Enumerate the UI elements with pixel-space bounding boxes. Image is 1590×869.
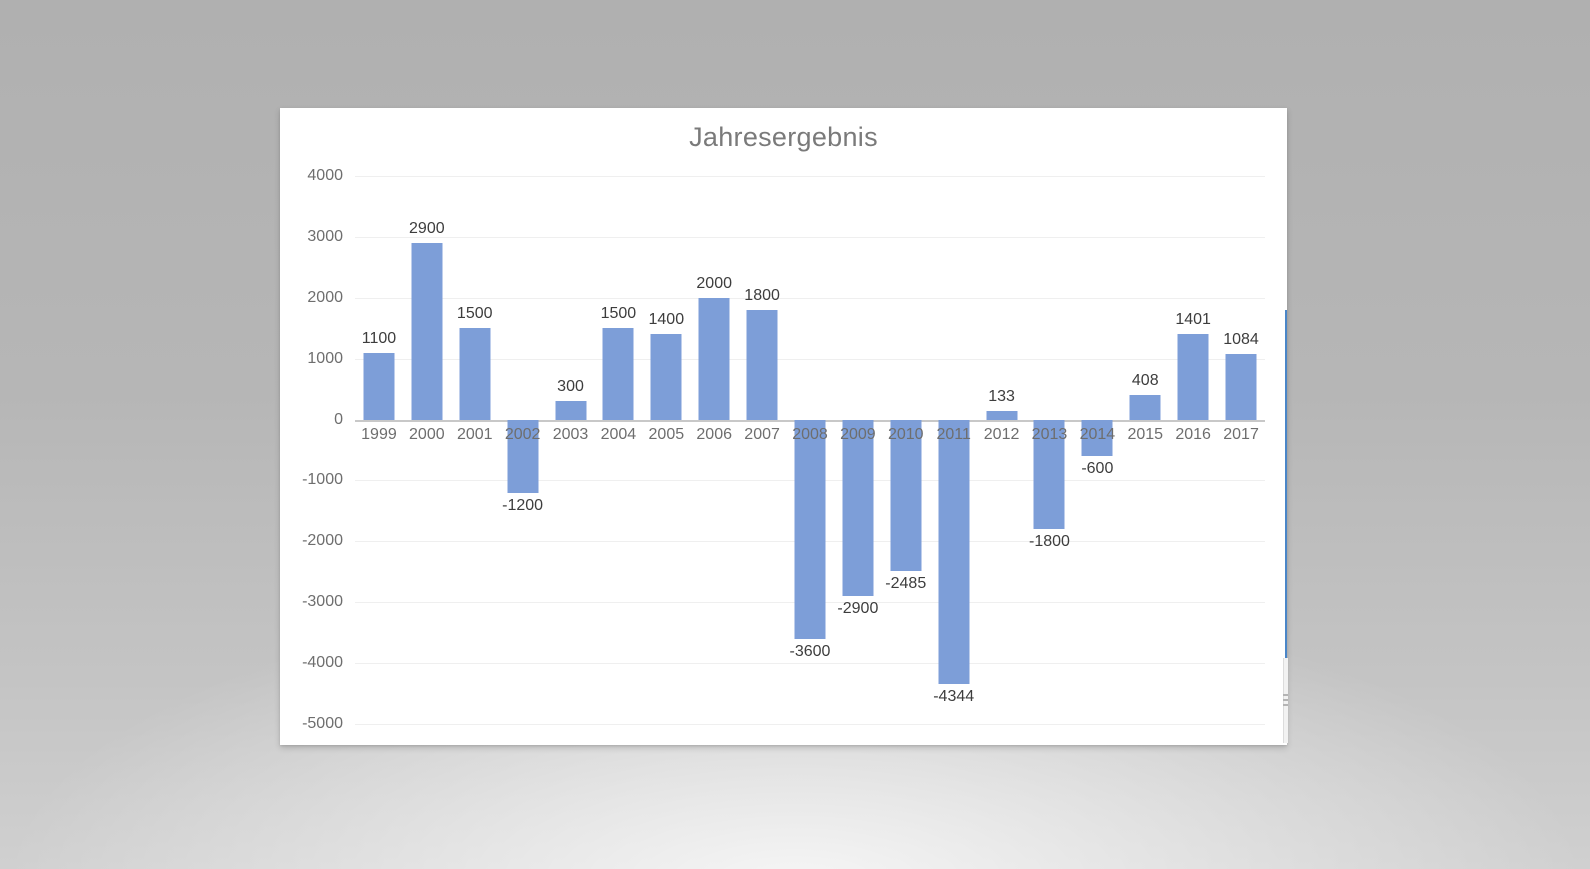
x-axis-category-label: 2000 — [409, 426, 445, 444]
y-axis-tick-label: 0 — [334, 411, 343, 429]
bar[interactable] — [699, 298, 730, 420]
bar-value-label: -3600 — [790, 643, 831, 661]
bar-slot: 1100 — [355, 176, 403, 724]
plot-area: 40003000200010000-1000-2000-3000-4000-50… — [355, 176, 1265, 724]
y-axis-tick-label: 3000 — [307, 228, 343, 246]
bar[interactable] — [603, 328, 634, 419]
y-axis-tick-label: -1000 — [302, 471, 343, 489]
y-axis-tick-label: -3000 — [302, 593, 343, 611]
bar-value-label: 133 — [988, 388, 1015, 406]
scrollbar-grip-icon[interactable] — [1283, 694, 1288, 708]
bar[interactable] — [555, 401, 586, 419]
x-axis-category-label: 1999 — [361, 426, 397, 444]
y-axis-tick-label: -2000 — [302, 532, 343, 550]
bar-slot: -3600 — [786, 176, 834, 724]
bar[interactable] — [794, 420, 825, 639]
bar-slot: 408 — [1121, 176, 1169, 724]
x-axis-category-label: 2003 — [553, 426, 589, 444]
x-axis-category-label: 2011 — [936, 426, 970, 444]
bar-slot: 300 — [547, 176, 595, 724]
bar-slot: 133 — [978, 176, 1026, 724]
x-axis-category-label: 2004 — [601, 426, 637, 444]
bar[interactable] — [938, 420, 969, 685]
x-axis-category-label: 2008 — [792, 426, 828, 444]
bar[interactable] — [1178, 334, 1209, 419]
x-axis-category-label: 2002 — [505, 426, 541, 444]
bar-slot: -1800 — [1026, 176, 1074, 724]
bar-value-label: -4344 — [933, 688, 974, 706]
bar-slot: -4344 — [930, 176, 978, 724]
y-axis-tick-label: -4000 — [302, 654, 343, 672]
bar-slot: 1084 — [1217, 176, 1265, 724]
x-axis-category-label: 2010 — [888, 426, 924, 444]
bar-value-label: 1500 — [601, 305, 637, 323]
bar-slot: 2900 — [403, 176, 451, 724]
x-axis-category-label: 2017 — [1223, 426, 1259, 444]
bar-value-label: 1401 — [1175, 311, 1211, 329]
bar-value-label: 1084 — [1223, 331, 1259, 349]
bar-value-label: 1100 — [362, 330, 396, 348]
bar-value-label: 2000 — [696, 275, 732, 293]
y-axis-tick-label: 4000 — [307, 167, 343, 185]
bar-value-label: 408 — [1132, 372, 1159, 390]
x-axis-category-label: 2014 — [1080, 426, 1116, 444]
bar[interactable] — [459, 328, 490, 419]
bar-slot: -600 — [1073, 176, 1121, 724]
bar[interactable] — [1226, 354, 1257, 420]
y-axis-tick-label: 2000 — [307, 289, 343, 307]
bar-value-label: -1200 — [502, 497, 543, 515]
bar-value-label: 1800 — [744, 287, 780, 305]
bar-value-label: 1500 — [457, 305, 493, 323]
bar[interactable] — [1130, 395, 1161, 420]
bars-layer: 110029001500-12003001500140020001800-360… — [355, 176, 1265, 724]
bar-slot: -2900 — [834, 176, 882, 724]
chart-title: Jahresergebnis — [280, 122, 1287, 153]
x-axis-category-label: 2006 — [696, 426, 732, 444]
x-axis-category-label: 2016 — [1175, 426, 1211, 444]
bar-slot: 2000 — [690, 176, 738, 724]
bar-value-label: 300 — [557, 378, 584, 396]
bar-slot: 1400 — [642, 176, 690, 724]
bar-slot: 1800 — [738, 176, 786, 724]
bar-value-label: -1800 — [1029, 533, 1070, 551]
bar[interactable] — [842, 420, 873, 597]
x-axis-category-label: 2009 — [840, 426, 876, 444]
bar[interactable] — [411, 243, 442, 420]
bar-value-label: -2485 — [885, 575, 926, 593]
bar-slot: -2485 — [882, 176, 930, 724]
x-axis-category-label: 2001 — [457, 426, 493, 444]
bar-value-label: -2900 — [837, 600, 878, 618]
bar-slot: 1401 — [1169, 176, 1217, 724]
bar-slot: -1200 — [499, 176, 547, 724]
x-axis-category-label: 2012 — [984, 426, 1020, 444]
x-axis-category-label: 2005 — [649, 426, 685, 444]
bar[interactable] — [651, 334, 682, 419]
bar[interactable] — [986, 411, 1017, 419]
bar-value-label: 2900 — [409, 220, 445, 238]
bar-slot: 1500 — [451, 176, 499, 724]
bar-value-label: 1400 — [649, 311, 685, 329]
x-axis-category-label: 2013 — [1032, 426, 1068, 444]
x-axis-category-label: 2007 — [744, 426, 780, 444]
panel-edge-accent-line — [1285, 310, 1287, 658]
bar-value-label: -600 — [1081, 460, 1113, 478]
gridline — [355, 724, 1265, 725]
y-axis-tick-label: -5000 — [302, 715, 343, 733]
bar[interactable] — [363, 353, 394, 420]
y-axis-tick-label: 1000 — [307, 350, 343, 368]
bar-slot: 1500 — [594, 176, 642, 724]
chart-panel[interactable]: Jahresergebnis 40003000200010000-1000-20… — [280, 108, 1287, 745]
bar[interactable] — [747, 310, 778, 420]
x-axis-category-label: 2015 — [1127, 426, 1163, 444]
